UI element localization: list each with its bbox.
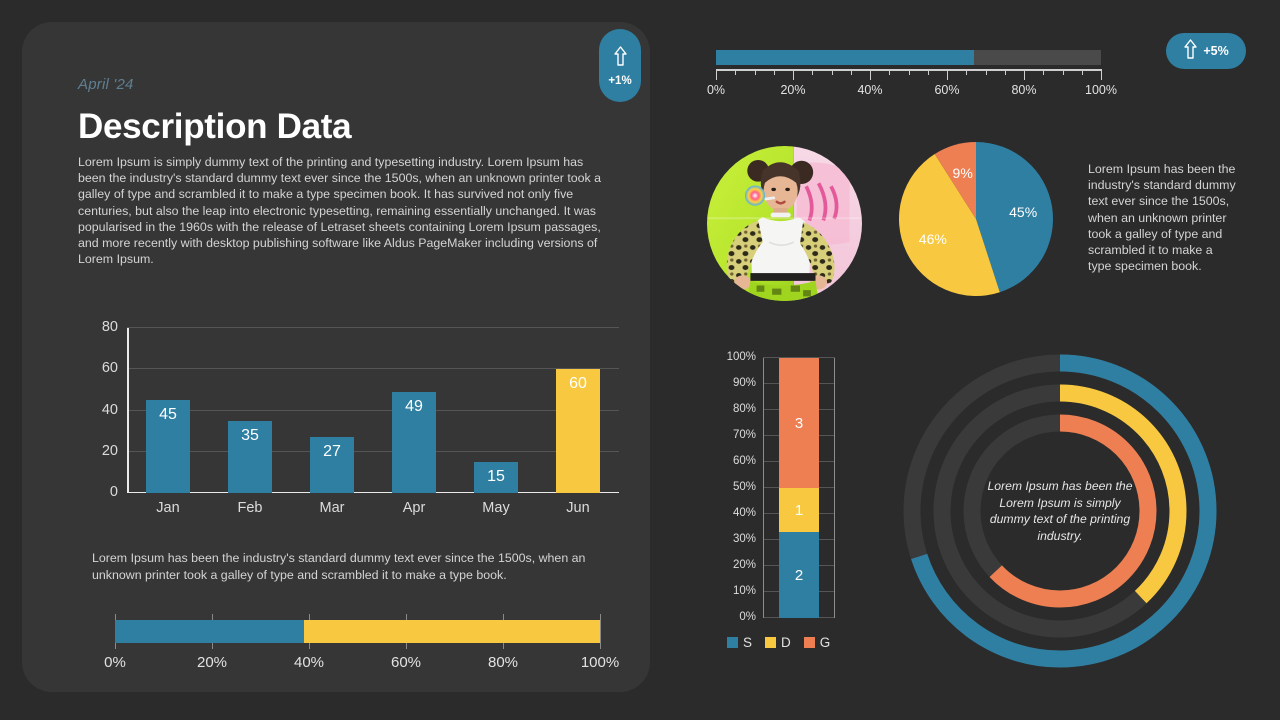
pie-slice-label: 46% (919, 231, 947, 247)
top-progress-tick (1043, 69, 1044, 75)
top-progress-tick (793, 69, 794, 80)
top-progress-tick (1063, 69, 1064, 75)
bar-chart-column[interactable]: 49 (373, 328, 455, 493)
top-progress-tick (812, 69, 813, 75)
bar-chart-y-label: 60 (102, 360, 118, 376)
top-progress-tick (928, 69, 929, 75)
growth-badge-horizontal-value: +5% (1203, 44, 1228, 58)
bar-chart-bar[interactable]: 27 (310, 437, 354, 493)
stacked-column-segment[interactable]: 1 (779, 488, 819, 532)
radial-rings-chart: Lorem Ipsum has been the Lorem Ipsum is … (895, 352, 1225, 670)
date-eyebrow: April '24 (78, 76, 134, 93)
top-progress-tick-label: 80% (1011, 83, 1036, 97)
stacked-column-y-label: 100% (727, 351, 756, 363)
right-paragraph: Lorem Ipsum has been the industry's stan… (1088, 161, 1238, 274)
stacked-column-y-label: 20% (733, 559, 756, 571)
bar-chart-y-label: 0 (110, 484, 118, 500)
avatar (707, 146, 862, 301)
stacked-column-bar: 312 (779, 358, 819, 618)
stacked-column-segment-label: 3 (795, 415, 803, 432)
stacked-column-axis (834, 358, 835, 618)
legend-swatch (804, 637, 815, 648)
stacked-column-segment-label: 1 (795, 502, 803, 519)
bar-chart-column[interactable]: 35 (209, 328, 291, 493)
pie-chart: 45%46%9% (898, 141, 1054, 297)
top-progress-tick (1101, 69, 1102, 80)
growth-badge-vertical-value: +1% (608, 75, 631, 87)
bar-chart-bars: 453527491560 (127, 328, 619, 493)
top-progress-tick (851, 69, 852, 75)
top-progress-track[interactable] (716, 50, 1101, 65)
top-progress-tick (755, 69, 756, 75)
top-progress-tick (889, 69, 890, 75)
bottom-progress-tick (600, 614, 601, 649)
top-progress-tick-label: 40% (857, 83, 882, 97)
top-progress-tick (909, 69, 910, 75)
lead-paragraph: Lorem Ipsum is simply dummy text of the … (78, 154, 606, 267)
stacked-column-axis (763, 358, 764, 618)
bar-chart-y-label: 20 (102, 443, 118, 459)
top-progress-tick (1024, 69, 1025, 80)
stacked-column-legend-item[interactable]: G (804, 635, 831, 650)
bottom-progress-tick-label: 100% (581, 654, 619, 671)
stacked-column-segment-label: 2 (795, 567, 803, 584)
pie-slice-label: 9% (953, 165, 973, 181)
top-progress-tick (1005, 69, 1006, 75)
top-progress-tick (832, 69, 833, 75)
bottom-progress-tick-label: 40% (294, 654, 324, 671)
bar-chart-column[interactable]: 15 (455, 328, 537, 493)
sub-paragraph: Lorem Ipsum has been the industry's stan… (92, 550, 620, 583)
legend-label: D (781, 635, 791, 650)
woman-with-lollipop-photo (707, 146, 862, 301)
bar-chart-value-label: 35 (241, 427, 259, 445)
stacked-column-legend-item[interactable]: D (765, 635, 791, 650)
top-progress-bar[interactable]: 0%20%40%60%80%100% (716, 50, 1101, 110)
stacked-column-y-label: 80% (733, 403, 756, 415)
stacked-column-legend: SDG (727, 635, 830, 650)
pie-slice-label: 45% (1009, 204, 1037, 220)
bottom-progress-tick-label: 0% (104, 654, 126, 671)
bar-chart-category-label: Jun (537, 500, 619, 516)
stacked-column-segment[interactable]: 2 (779, 532, 819, 618)
stacked-column-y-label: 50% (733, 481, 756, 493)
top-progress-fill (716, 50, 974, 65)
monthly-bar-chart: 020406080 453527491560 JanFebMarAprMayJu… (82, 320, 627, 525)
bar-chart-category-label: May (455, 500, 537, 516)
description-card: April '24 Description Data Lorem Ipsum i… (22, 22, 650, 692)
bottom-progress-segment[interactable] (304, 620, 600, 643)
stacked-column-y-label: 10% (733, 585, 756, 597)
bottom-stacked-progress[interactable]: 0%20%40%60%80%100% (115, 612, 600, 682)
growth-badge-horizontal[interactable]: +5% (1166, 33, 1246, 69)
legend-label: G (820, 635, 831, 650)
top-progress-tick (966, 69, 967, 75)
stacked-column-y-label: 60% (733, 455, 756, 467)
bar-chart-bar[interactable]: 15 (474, 462, 518, 493)
bar-chart-column[interactable]: 27 (291, 328, 373, 493)
bar-chart-category-label: Apr (373, 500, 455, 516)
stacked-column-y-label: 70% (733, 429, 756, 441)
bar-chart-value-label: 49 (405, 398, 423, 416)
bar-chart-category-label: Jan (127, 500, 209, 516)
bar-chart-value-label: 45 (159, 406, 177, 424)
top-progress-tick-label: 0% (707, 83, 725, 97)
stacked-column-segment[interactable]: 3 (779, 358, 819, 488)
top-progress-tick (735, 69, 736, 75)
bottom-progress-segment[interactable] (115, 620, 304, 643)
top-progress-tick (1082, 69, 1083, 75)
stacked-column-y-label: 40% (733, 507, 756, 519)
top-progress-tick (870, 69, 871, 80)
bar-chart-column[interactable]: 60 (537, 328, 619, 493)
stacked-column-y-label: 30% (733, 533, 756, 545)
page-title: Description Data (78, 107, 351, 147)
bottom-progress-tick-label: 60% (391, 654, 421, 671)
stacked-column-y-label: 90% (733, 377, 756, 389)
stacked-column-chart: 0%10%20%30%40%50%60%70%80%90%100% 312 SD… (705, 352, 845, 662)
growth-badge-vertical[interactable]: +1% (599, 29, 641, 102)
bottom-progress-labels: 0%20%40%60%80%100% (115, 654, 600, 674)
bar-chart-value-label: 15 (487, 468, 505, 486)
stacked-column-y-label: 0% (739, 611, 756, 623)
bar-chart-value-label: 27 (323, 443, 341, 461)
top-progress-tick (716, 69, 717, 80)
arrow-up-icon (1183, 38, 1198, 65)
bar-chart-y-label: 40 (102, 402, 118, 418)
legend-label: S (743, 635, 752, 650)
stacked-column-legend-item[interactable]: S (727, 635, 752, 650)
bar-chart-column[interactable]: 45 (127, 328, 209, 493)
top-progress-tick-label: 20% (780, 83, 805, 97)
bar-chart-y-label: 80 (102, 319, 118, 335)
bottom-progress-tick-label: 80% (488, 654, 518, 671)
top-progress-tick-label: 60% (934, 83, 959, 97)
bottom-progress-tick-label: 20% (197, 654, 227, 671)
bar-chart-bar[interactable]: 49 (392, 392, 436, 493)
legend-swatch (765, 637, 776, 648)
radial-center-text: Lorem Ipsum has been the Lorem Ipsum is … (980, 478, 1140, 544)
bottom-progress-track[interactable] (115, 620, 600, 643)
bar-chart-bar[interactable]: 35 (228, 421, 272, 493)
bar-chart-value-label: 60 (569, 375, 587, 393)
top-progress-tick-label: 100% (1085, 83, 1117, 97)
legend-swatch (727, 637, 738, 648)
top-progress-tick (947, 69, 948, 80)
top-progress-tick (774, 69, 775, 75)
bar-chart-bar[interactable]: 45 (146, 400, 190, 493)
top-progress-tick (986, 69, 987, 75)
bar-chart-bar[interactable]: 60 (556, 369, 600, 493)
bar-chart-category-label: Feb (209, 500, 291, 516)
arrow-up-icon (613, 45, 628, 72)
bar-chart-category-label: Mar (291, 500, 373, 516)
bar-chart-x-labels: JanFebMarAprMayJun (127, 500, 619, 516)
dashboard-slide: April '24 Description Data Lorem Ipsum i… (0, 0, 1280, 720)
